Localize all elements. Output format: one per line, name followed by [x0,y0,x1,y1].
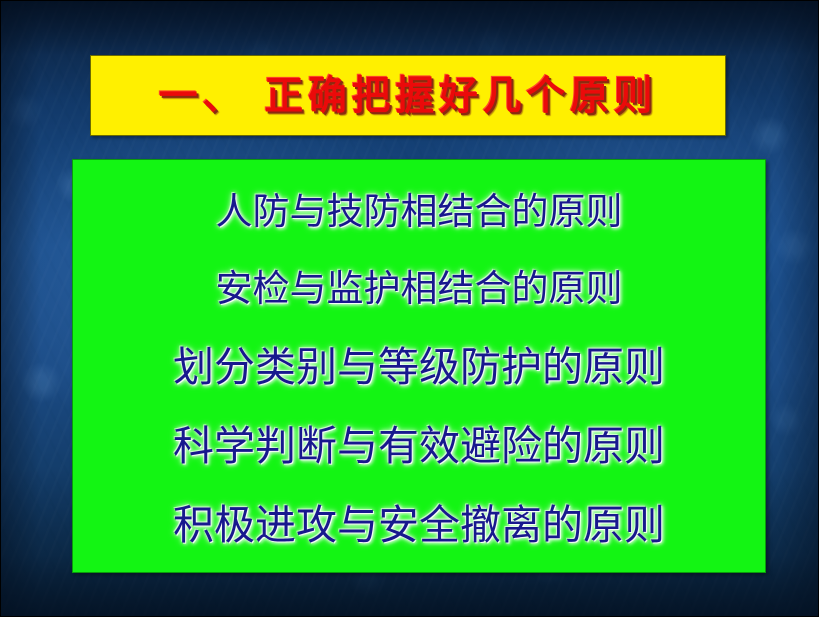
principles-panel: 人防与技防相结合的原则 安检与监护相结合的原则 划分类别与等级防护的原则 科学判… [72,159,766,573]
principle-line-1: 人防与技防相结合的原则 [216,193,623,230]
title-banner: 一、 正确把握好几个原则 [90,55,726,136]
principle-line-4: 科学判断与有效避险的原则 [173,426,665,467]
principle-line-3: 划分类别与等级防护的原则 [173,347,665,388]
presentation-slide: 一、 正确把握好几个原则 人防与技防相结合的原则 安检与监护相结合的原则 划分类… [0,0,819,617]
principle-line-2: 安检与监护相结合的原则 [216,270,623,307]
principle-line-5: 积极进攻与安全撤离的原则 [173,505,665,546]
slide-title: 一、 正确把握好几个原则 [159,76,658,116]
